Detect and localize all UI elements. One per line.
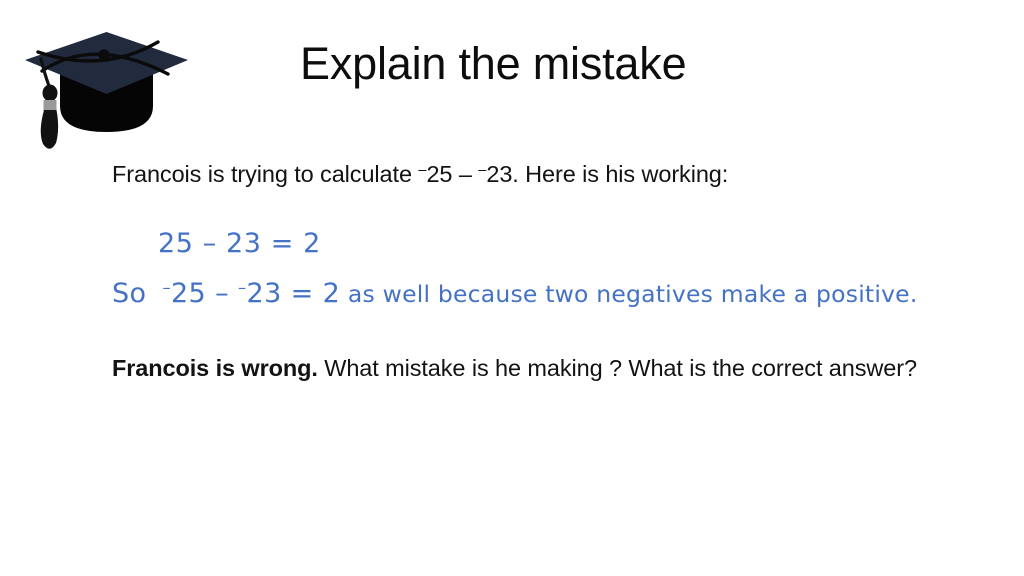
intro-neg2-value: 23 bbox=[486, 161, 512, 187]
cap-button bbox=[98, 49, 109, 60]
intro-operator: – bbox=[452, 161, 478, 187]
working-block: 25 – 23 = 2 So–25 – –23 = 2 as well beca… bbox=[112, 224, 942, 314]
graduation-cap-icon bbox=[8, 14, 193, 154]
slide-canvas: Explain the mistake Francois is trying t… bbox=[0, 0, 1024, 576]
working-neg2-value: 23 bbox=[247, 278, 282, 309]
question-text: Francois is wrong. What mistake is he ma… bbox=[112, 352, 917, 385]
intro-text: Francois is trying to calculate –25 – –2… bbox=[112, 160, 728, 189]
tassel-knot bbox=[43, 85, 58, 102]
question-rest: What mistake is he making ? What is the … bbox=[318, 355, 917, 381]
working-result: = 2 bbox=[282, 278, 341, 309]
working-neg1-value: 25 bbox=[171, 278, 206, 309]
working-neg1-sign: – bbox=[162, 278, 171, 297]
tassel-band bbox=[44, 100, 57, 111]
page-title: Explain the mistake bbox=[300, 38, 686, 90]
working-operator: – bbox=[206, 278, 238, 309]
working-explanation: as well because two negatives make a pos… bbox=[340, 280, 917, 308]
intro-after: . Here is his working: bbox=[512, 161, 728, 187]
working-line-2-prefix: So bbox=[112, 278, 146, 309]
tassel-skirt bbox=[41, 110, 58, 149]
intro-before: Francois is trying to calculate bbox=[112, 161, 418, 187]
working-neg2-sign: – bbox=[238, 278, 247, 297]
question-bold: Francois is wrong. bbox=[112, 355, 318, 381]
working-line-2: So–25 – –23 = 2 as well because two nega… bbox=[112, 274, 942, 315]
intro-neg1-value: 25 bbox=[426, 161, 452, 187]
working-line-1: 25 – 23 = 2 bbox=[112, 224, 942, 265]
